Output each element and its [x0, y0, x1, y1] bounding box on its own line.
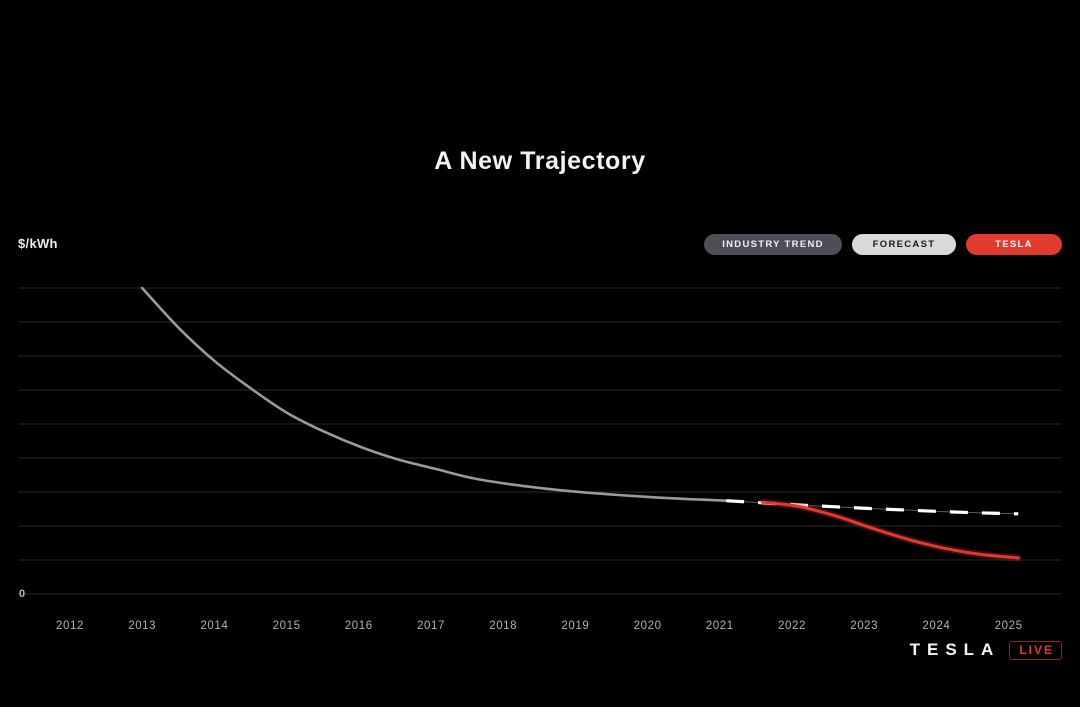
x-axis-tick-label: 2014	[200, 620, 228, 632]
x-axis-tick-label: 2016	[345, 620, 373, 632]
x-axis-tick-label: 2021	[706, 620, 734, 632]
x-axis-tick-label: 2018	[489, 620, 517, 632]
chart-series-layer	[142, 288, 1018, 558]
brand-lockup: TESLA LIVE	[910, 640, 1062, 660]
x-axis-tick-label: 2022	[778, 620, 806, 632]
x-axis-tick-label: 2020	[634, 620, 662, 632]
y-axis-zero-label: 0	[19, 588, 25, 600]
x-axis-tick-label: 2017	[417, 620, 445, 632]
brand-wordmark: TESLA	[910, 640, 1001, 660]
x-axis-ticks: 2012201320142015201620172018201920202021…	[0, 620, 1080, 638]
x-axis-tick-label: 2024	[922, 620, 950, 632]
x-axis-tick-label: 2023	[850, 620, 878, 632]
x-axis-tick-label: 2013	[128, 620, 156, 632]
chart-gridlines	[18, 288, 1062, 594]
brand-live-badge: LIVE	[1009, 641, 1062, 660]
x-axis-tick-label: 2019	[561, 620, 589, 632]
chart-svg	[0, 0, 1080, 707]
series-line-industry-trend	[142, 288, 726, 501]
x-axis-tick-label: 2025	[995, 620, 1023, 632]
slide-canvas: A New Trajectory $/kWh INDUSTRY TREND FO…	[0, 0, 1080, 707]
x-axis-tick-label: 2015	[273, 620, 301, 632]
chart-plot-area	[0, 0, 1080, 707]
x-axis-tick-label: 2012	[56, 620, 84, 632]
